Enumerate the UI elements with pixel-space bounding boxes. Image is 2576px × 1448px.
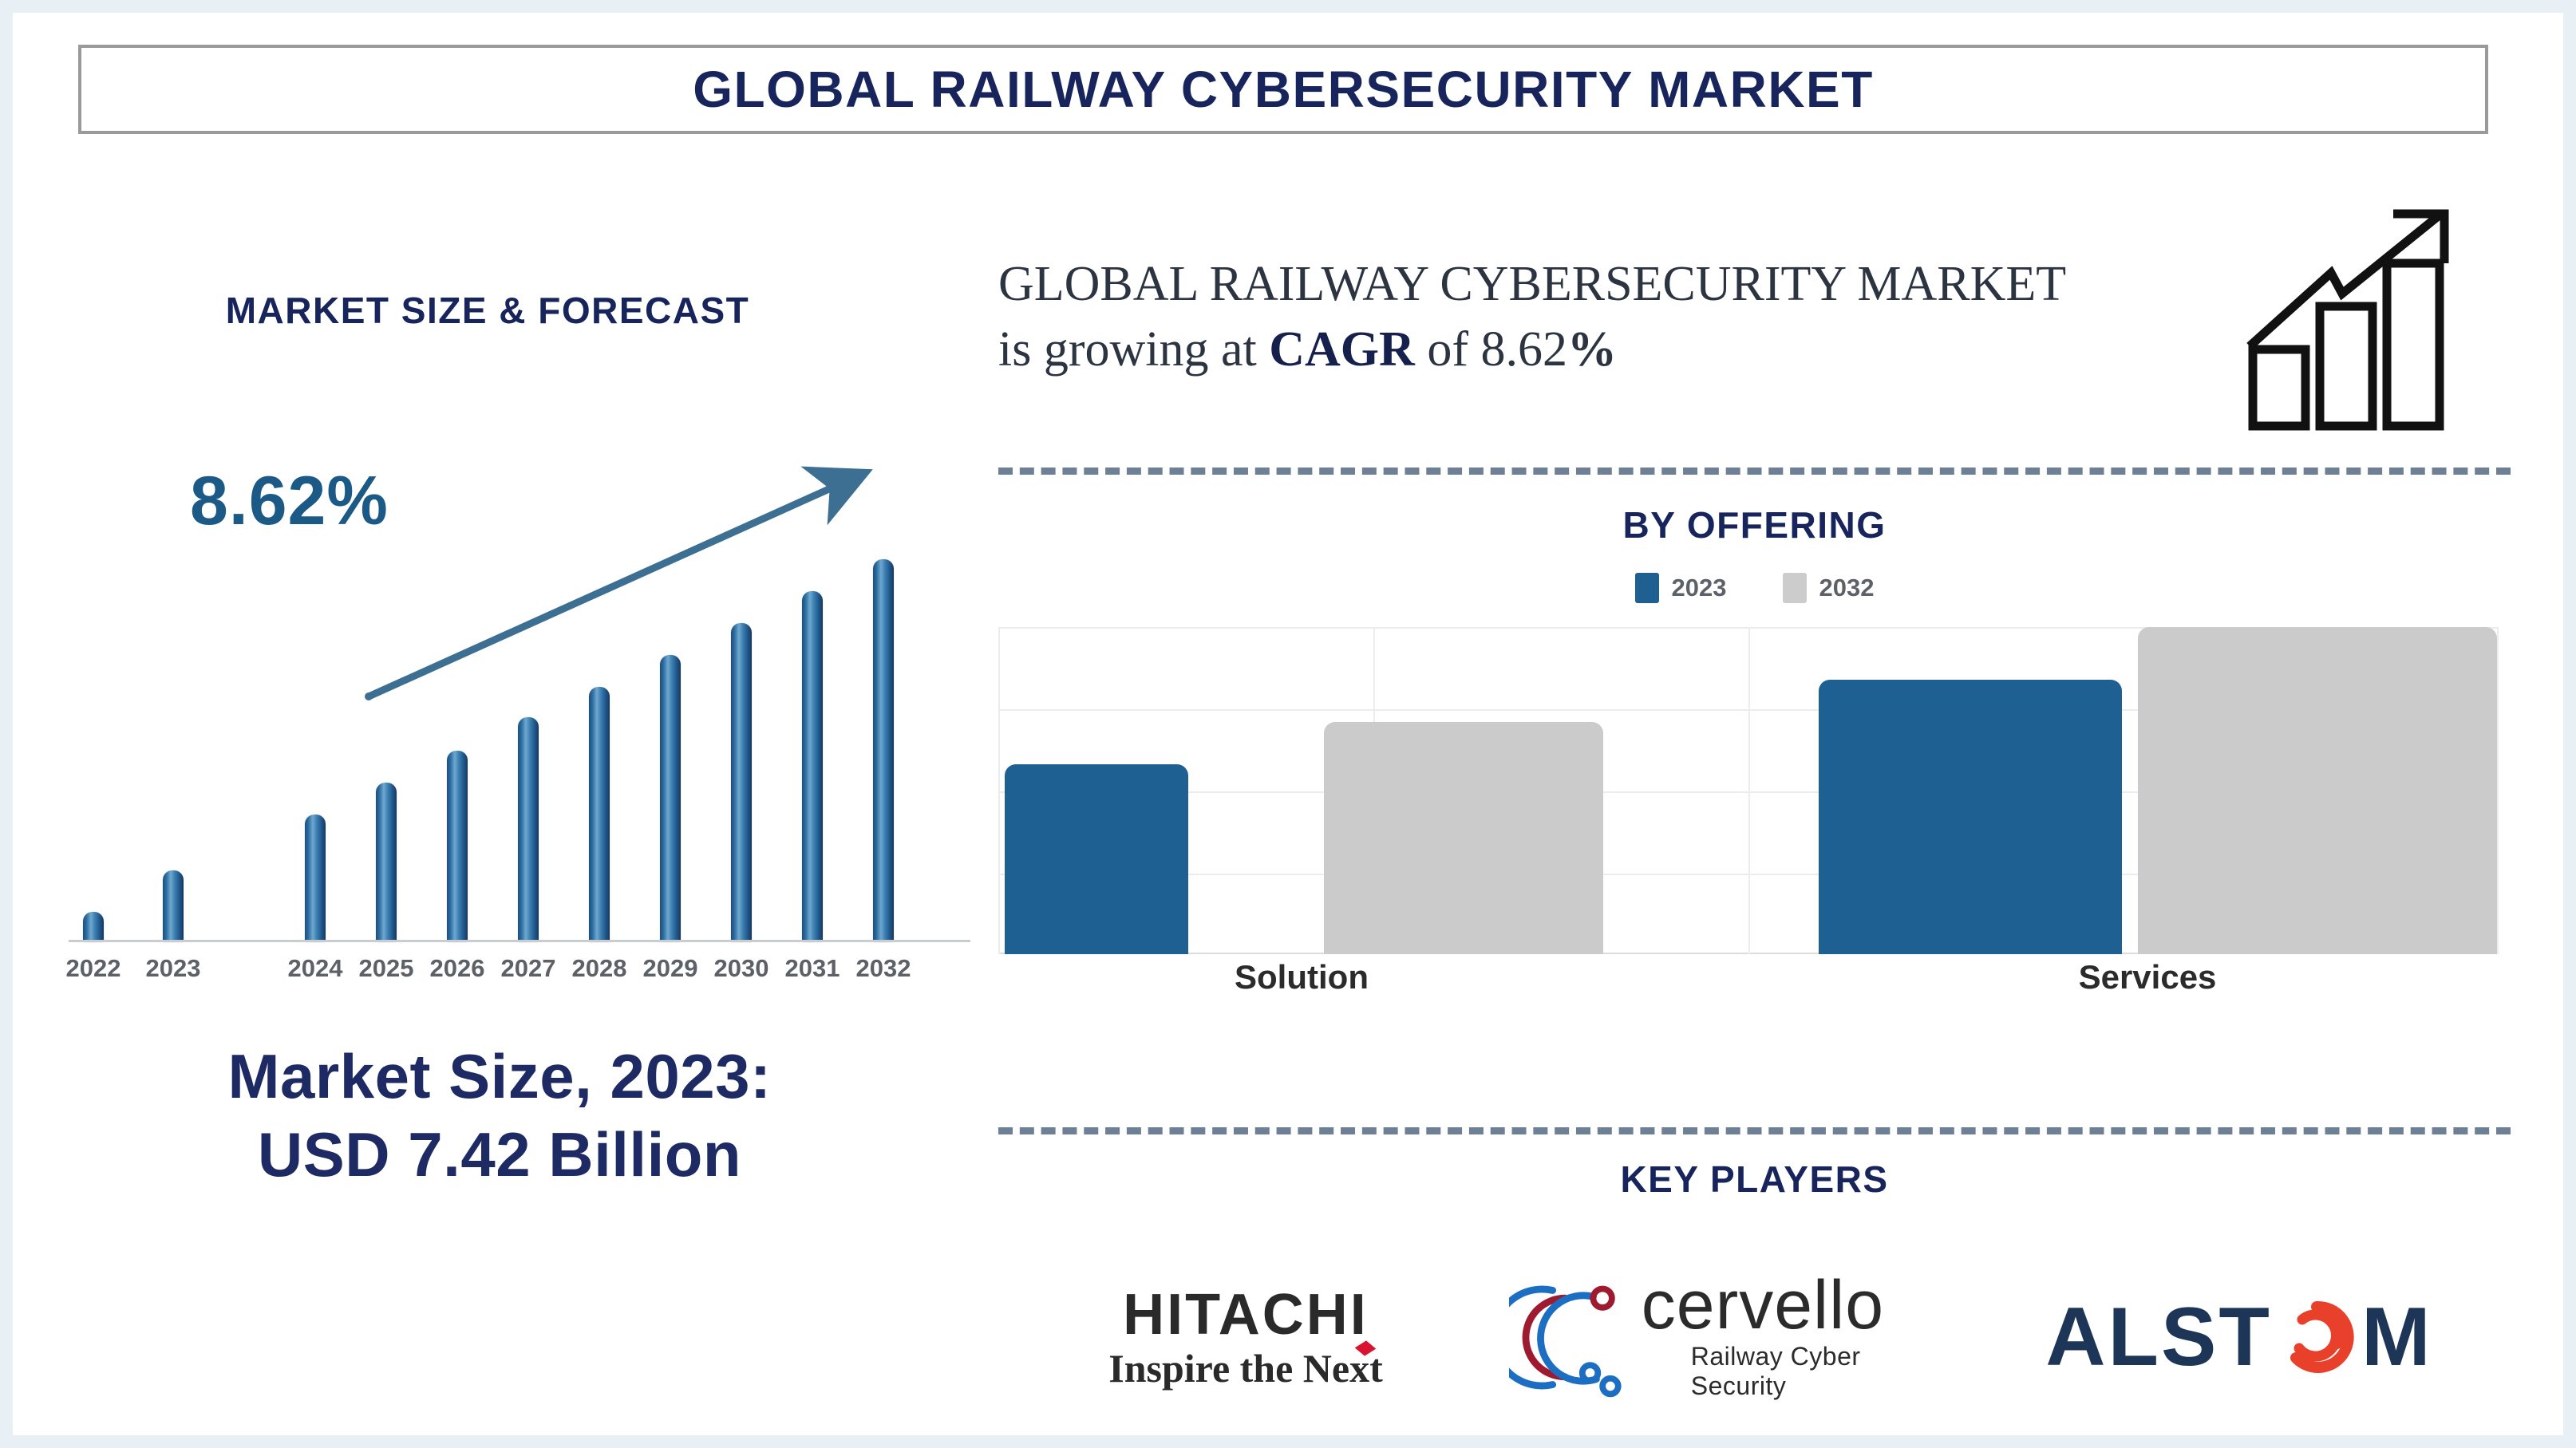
year-label: 2022 — [66, 954, 121, 983]
overview-panel: GLOBAL RAILWAY CYBERSECURITY MARKET is g… — [998, 212, 2515, 1401]
offering-bar-services-2032 — [2138, 627, 2497, 954]
year-label: 2025 — [359, 954, 414, 983]
key-players-logos: HITACHI Inspire the Next — [998, 1249, 2511, 1425]
year-label: 2026 — [430, 954, 485, 983]
cervello-arcs-icon — [1509, 1272, 1650, 1403]
cervello-tagline: Railway Cyber Security — [1691, 1342, 1956, 1401]
divider-bottom — [998, 1127, 2511, 1134]
market-size-chart: 8.62% — [69, 416, 970, 942]
market-size-value: Market Size, 2023: USD 7.42 Billion — [45, 1038, 954, 1194]
logo-alstom: ALST M — [2000, 1249, 2479, 1425]
cervello-wordmark: cervello — [1642, 1273, 1884, 1339]
offering-chart — [998, 627, 2499, 954]
growth-bars — [69, 464, 970, 942]
year-label: 2030 — [714, 954, 769, 983]
gridline-vertical — [998, 627, 1000, 954]
alstom-wordmark-right: M — [2361, 1296, 2433, 1379]
year-label: 2027 — [501, 954, 556, 983]
gridline-vertical — [1748, 627, 1750, 954]
legend-item-2023: 2023 — [1635, 573, 1727, 603]
infographic-canvas: GLOBAL RAILWAY CYBERSECURITY MARKET MARK… — [13, 13, 2563, 1435]
year-label: 2031 — [785, 954, 840, 983]
legend-label-2023: 2023 — [1672, 574, 1727, 602]
growth-bar — [518, 717, 539, 942]
by-offering-heading: BY OFFERING — [998, 503, 2511, 546]
divider-top — [998, 468, 2511, 475]
infographic-page: GLOBAL RAILWAY CYBERSECURITY MARKET MARK… — [0, 0, 2576, 1448]
market-size-line-1: Market Size, 2023: — [45, 1038, 954, 1116]
cagr-statement-part2: of — [1415, 322, 1481, 377]
growth-bar — [873, 559, 894, 942]
growth-bar — [802, 591, 823, 942]
offering-bar-solution-2032 — [1324, 722, 1603, 954]
legend-swatch-2032 — [1783, 573, 1807, 603]
growth-bar — [83, 912, 104, 942]
growth-bar — [447, 751, 468, 942]
offering-bar-solution-2023 — [1005, 764, 1188, 954]
year-label: 2023 — [146, 954, 201, 983]
growth-bar — [376, 783, 397, 942]
logo-hitachi: HITACHI Inspire the Next — [1030, 1249, 1461, 1425]
growth-bar — [660, 655, 681, 942]
offering-bar-services-2023 — [1819, 680, 2122, 954]
chart-baseline — [69, 940, 970, 942]
alstom-o-icon — [2275, 1296, 2358, 1379]
market-size-panel: MARKET SIZE & FORECAST 8.62% — [45, 212, 986, 1401]
title-box: GLOBAL RAILWAY CYBERSECURITY MARKET — [78, 45, 2488, 134]
hitachi-tagline-text: Inspire the Next — [1108, 1346, 1383, 1391]
cagr-statement: GLOBAL RAILWAY CYBERSECURITY MARKET is g… — [998, 252, 2092, 383]
growth-bar — [305, 815, 326, 942]
cagr-value-group: 8.62% — [1480, 322, 1617, 377]
key-players-heading: KEY PLAYERS — [998, 1158, 2511, 1201]
gridline-vertical — [2497, 627, 2499, 954]
hitachi-wordmark: HITACHI — [1123, 1286, 1369, 1343]
year-label: 2024 — [288, 954, 343, 983]
cagr-percent-symbol: % — [1567, 322, 1617, 377]
year-label: 2032 — [856, 954, 911, 983]
cervello-text: cervello Railway Cyber Security — [1642, 1273, 1956, 1401]
market-size-line-2: USD 7.42 Billion — [45, 1116, 954, 1194]
offering-legend: 2023 2032 — [998, 573, 2511, 603]
category-label-services: Services — [2079, 958, 2217, 996]
growth-bar — [163, 870, 184, 942]
trending-up-bar-chart-icon — [2243, 204, 2483, 436]
year-label: 2029 — [643, 954, 698, 983]
legend-label-2032: 2032 — [1819, 574, 1875, 602]
market-size-heading: MARKET SIZE & FORECAST — [45, 289, 930, 332]
offering-category-axis: Solution Services — [998, 958, 2499, 1006]
year-axis: 2022 2023 2024 2025 2026 2027 2028 2029 … — [69, 954, 970, 1002]
cagr-keyword: CAGR — [1269, 322, 1415, 377]
alstom-wordmark-left: ALST — [2045, 1296, 2272, 1379]
cervello-lockup: cervello Railway Cyber Security — [1509, 1272, 1956, 1403]
legend-item-2032: 2032 — [1783, 573, 1875, 603]
growth-bar — [731, 623, 752, 942]
year-label: 2028 — [572, 954, 627, 983]
page-title: GLOBAL RAILWAY CYBERSECURITY MARKET — [693, 60, 1874, 119]
category-label-solution: Solution — [1235, 958, 1369, 996]
legend-swatch-2023 — [1635, 573, 1659, 603]
logo-cervello: cervello Railway Cyber Security — [1509, 1249, 1956, 1425]
alstom-lockup: ALST M — [2045, 1296, 2432, 1379]
cagr-value: 8.62 — [1480, 322, 1567, 377]
hitachi-tagline: Inspire the Next — [1108, 1348, 1383, 1388]
growth-bar — [589, 687, 610, 942]
